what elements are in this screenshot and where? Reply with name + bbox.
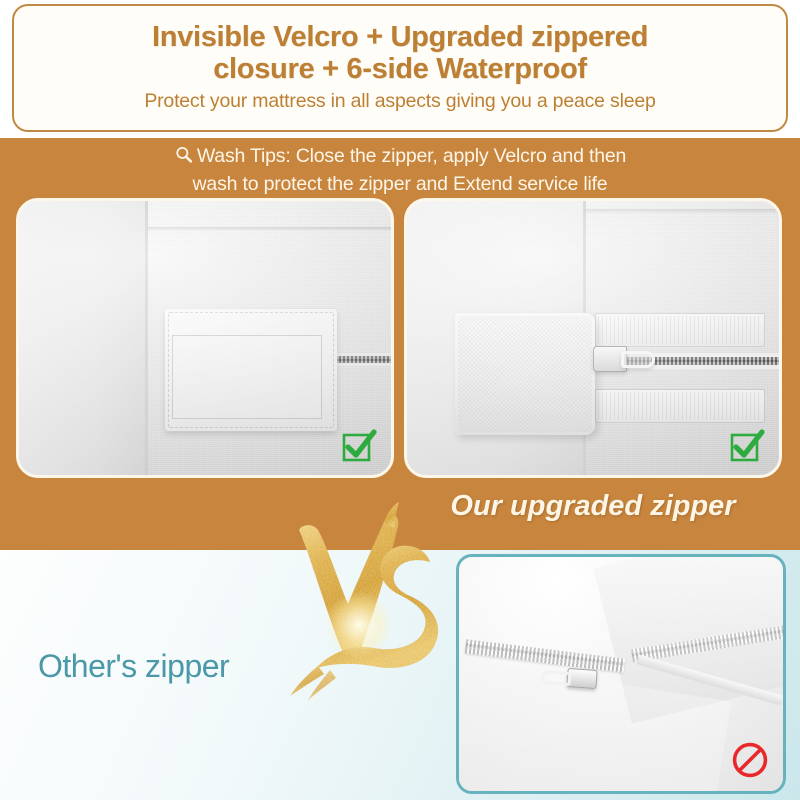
others-exposed-zipper-photo xyxy=(456,554,786,794)
photo-shading xyxy=(19,201,391,475)
orange-feature-section: Wash Tips: Close the zipper, apply Velcr… xyxy=(0,138,800,550)
page-title-line2: closure + 6-side Waterproof xyxy=(213,53,587,85)
velcro-zipper-open-photo xyxy=(404,198,782,478)
magnifier-icon xyxy=(174,145,194,172)
wash-tips-text: Wash Tips: Close the zipper, apply Velcr… xyxy=(0,144,800,197)
wash-tips-line2: wash to protect the zipper and Extend se… xyxy=(0,172,800,197)
wash-tips-line1: Wash Tips: Close the zipper, apply Velcr… xyxy=(197,145,626,167)
zipper-pull-tab xyxy=(541,670,572,686)
photo-shading xyxy=(407,201,779,475)
page-title: Invisible Velcro + Upgraded zippered clo… xyxy=(152,21,648,86)
prohibition-icon xyxy=(731,741,769,779)
velcro-flap-closed-photo xyxy=(16,198,394,478)
header-band: Invisible Velcro + Upgraded zippered clo… xyxy=(0,0,800,140)
wash-tips-line1-row: Wash Tips: Close the zipper, apply Velcr… xyxy=(0,144,800,172)
zipper-slider xyxy=(566,668,597,689)
others-zipper-caption: Other's zipper xyxy=(38,648,229,685)
upgraded-zipper-caption: Our upgraded zipper xyxy=(404,490,782,523)
green-check-icon xyxy=(729,429,765,465)
header-card: Invisible Velcro + Upgraded zippered clo… xyxy=(12,4,788,132)
page-subtitle: Protect your mattress in all aspects giv… xyxy=(144,90,655,113)
page-title-line1: Invisible Velcro + Upgraded zippered xyxy=(152,21,648,53)
photo-row xyxy=(0,198,800,483)
green-check-icon xyxy=(341,429,377,465)
